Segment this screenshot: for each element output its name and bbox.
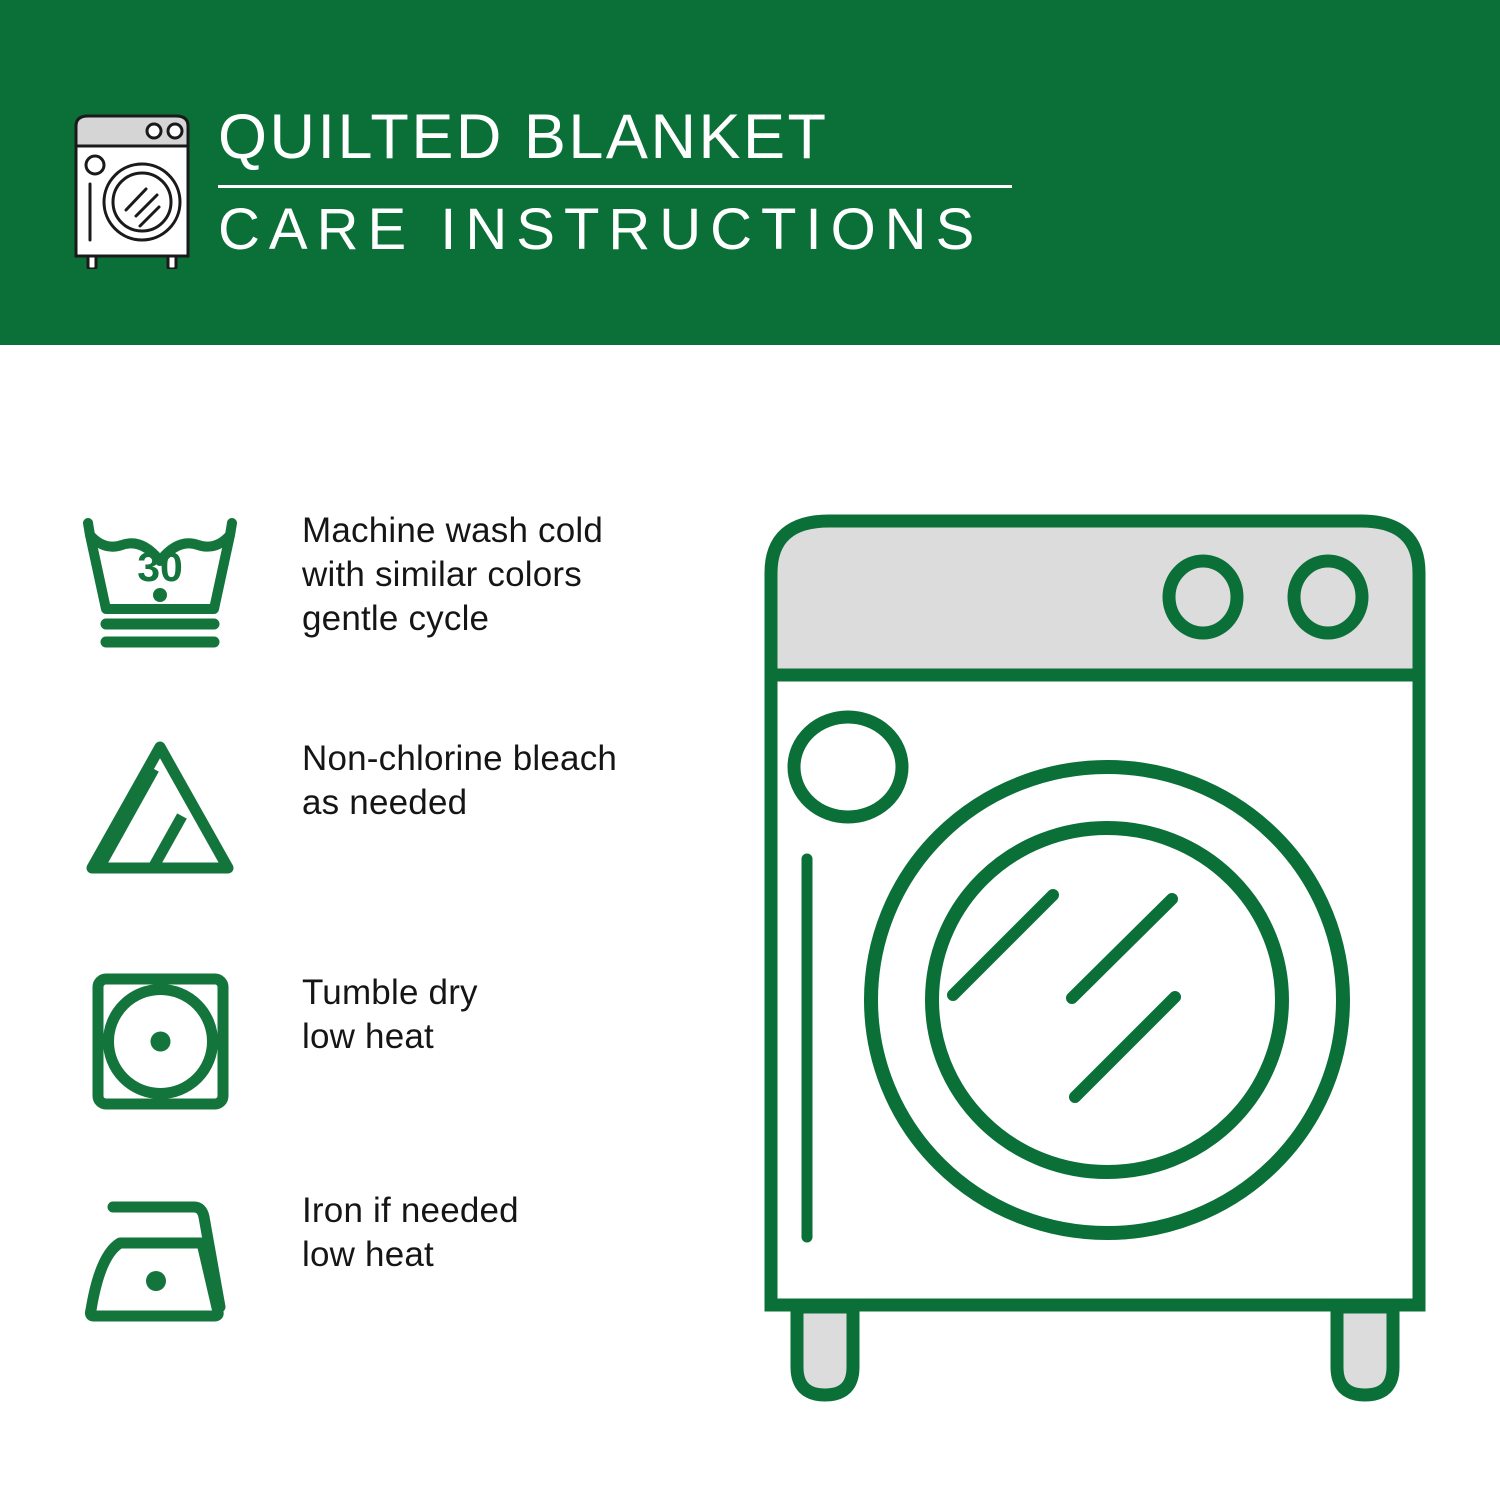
instruction-row-bleach: Non-chlorine bleach as needed [70,733,710,883]
page-subtitle: CARE INSTRUCTIONS [218,197,1058,263]
leg-left [797,1307,853,1395]
tumble-dry-low-icon [70,967,250,1117]
front-load-washing-machine-illustration [735,495,1455,1425]
knob-right [1294,561,1362,633]
instruction-text-iron: Iron if needed low heat [302,1185,519,1277]
instruction-row-wash: 30 Machine wash cold with similar colors… [70,505,710,655]
instruction-line: low heat [302,1015,478,1059]
leg-right [1337,1307,1393,1395]
care-instructions-page: QUILTED BLANKET CARE INSTRUCTIONS 30 [0,0,1500,1500]
instruction-line: gentle cycle [302,597,603,641]
knob-left [1169,561,1237,633]
non-chlorine-bleach-triangle-icon [70,733,250,883]
instruction-text-bleach: Non-chlorine bleach as needed [302,733,617,825]
header-band: QUILTED BLANKET CARE INSTRUCTIONS [0,0,1500,345]
iron-low-heat-icon [70,1185,250,1335]
instruction-line: Tumble dry [302,971,478,1015]
drum-inner-ring [932,828,1282,1172]
washing-machine-icon [62,104,202,269]
instruction-text-wash: Machine wash cold with similar colors ge… [302,505,603,641]
header-text-block: QUILTED BLANKET CARE INSTRUCTIONS [218,100,1058,263]
header-divider [218,185,1012,188]
instruction-line: low heat [302,1233,519,1277]
wash-temperature-label: 30 [137,544,183,590]
instruction-line: with similar colors [302,553,603,597]
instruction-line: as needed [302,781,617,825]
wash-tub-30-icon: 30 [70,505,250,655]
instruction-line: Iron if needed [302,1189,519,1233]
instruction-line: Machine wash cold [302,509,603,553]
instruction-line: Non-chlorine bleach [302,737,617,781]
instruction-text-tumble-dry: Tumble dry low heat [302,967,478,1059]
page-title: QUILTED BLANKET [218,100,1058,174]
instruction-row-iron: Iron if needed low heat [70,1185,710,1335]
detergent-dispenser-circle [794,717,902,817]
instruction-row-tumble-dry: Tumble dry low heat [70,967,710,1117]
